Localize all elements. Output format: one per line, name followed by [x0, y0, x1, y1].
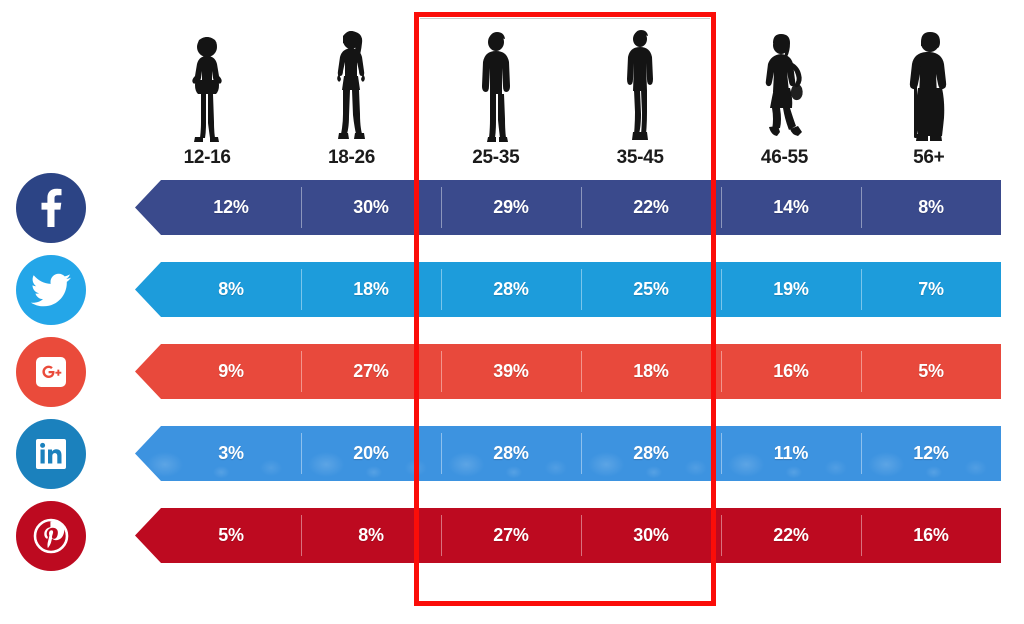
value-cell: 12%: [135, 180, 301, 235]
value-cell: 29%: [441, 180, 581, 235]
value-cell: 8%: [301, 508, 441, 563]
value-cell: 16%: [721, 344, 861, 399]
facebook-icon[interactable]: [16, 173, 86, 243]
value-cell: 27%: [301, 344, 441, 399]
value-cell: 8%: [135, 262, 301, 317]
value-cell: 22%: [581, 180, 721, 235]
age-column-35-45: 35-45: [568, 18, 712, 170]
value-cell: 25%: [581, 262, 721, 317]
network-rows: 12% 30% 29% 22% 14% 8% 8% 18% 28% 25% 19…: [0, 180, 1024, 590]
value-cell: 20%: [301, 426, 441, 481]
age-column-12-16: 12-16: [135, 18, 279, 170]
value-cell: 5%: [135, 508, 301, 563]
age-label: 12-16: [184, 148, 231, 170]
age-column-46-55: 46-55: [712, 18, 856, 170]
facebook-bar: 12% 30% 29% 22% 14% 8%: [135, 180, 1001, 235]
value-cell: 28%: [441, 262, 581, 317]
table-row: 12% 30% 29% 22% 14% 8%: [0, 180, 1024, 235]
value-cell: 11%: [721, 426, 861, 481]
value-cell: 9%: [135, 344, 301, 399]
value-cell: 30%: [581, 508, 721, 563]
pinterest-bar: 5% 8% 27% 30% 22% 16%: [135, 508, 1001, 563]
young-woman-silhouette-icon: [326, 30, 376, 142]
google-plus-bar: 9% 27% 39% 18% 16% 5%: [135, 344, 1001, 399]
linkedin-icon[interactable]: [16, 419, 86, 489]
age-group-header: 12-16: [135, 18, 1001, 170]
value-cell: 12%: [861, 426, 1001, 481]
elderly-person-with-cane-silhouette-icon: [902, 30, 956, 142]
table-row: 3% 20% 28% 28% 11% 12%: [0, 426, 1024, 481]
age-label: 25-35: [472, 148, 519, 170]
google-plus-icon[interactable]: [16, 337, 86, 407]
value-cell: 27%: [441, 508, 581, 563]
value-cell: 19%: [721, 262, 861, 317]
value-cell: 3%: [135, 426, 301, 481]
girl-silhouette-icon: [181, 30, 233, 142]
value-cell: 7%: [861, 262, 1001, 317]
value-cell: 28%: [441, 426, 581, 481]
woman-with-bag-silhouette-icon: [757, 30, 811, 142]
value-cell: 18%: [301, 262, 441, 317]
table-row: 9% 27% 39% 18% 16% 5%: [0, 344, 1024, 399]
value-cell: 8%: [861, 180, 1001, 235]
social-media-age-infographic: 12-16: [0, 0, 1024, 624]
table-row: 8% 18% 28% 25% 19% 7%: [0, 262, 1024, 317]
value-cell: 5%: [861, 344, 1001, 399]
value-cell: 22%: [721, 508, 861, 563]
twitter-icon[interactable]: [16, 255, 86, 325]
value-cell: 18%: [581, 344, 721, 399]
value-cell: 14%: [721, 180, 861, 235]
linkedin-bar: 3% 20% 28% 28% 11% 12%: [135, 426, 1001, 481]
value-cell: 30%: [301, 180, 441, 235]
age-column-25-35: 25-35: [424, 18, 568, 170]
age-label: 35-45: [617, 148, 664, 170]
pinterest-icon[interactable]: [16, 501, 86, 571]
twitter-bar: 8% 18% 28% 25% 19% 7%: [135, 262, 1001, 317]
table-row: 5% 8% 27% 30% 22% 16%: [0, 508, 1024, 563]
value-cell: 28%: [581, 426, 721, 481]
walking-man-silhouette-icon: [619, 30, 661, 142]
value-cell: 16%: [861, 508, 1001, 563]
age-label: 56+: [913, 148, 944, 170]
age-column-56-plus: 56+: [857, 18, 1001, 170]
age-label: 18-26: [328, 148, 375, 170]
young-man-silhouette-icon: [473, 30, 519, 142]
age-label: 46-55: [761, 148, 808, 170]
age-column-18-26: 18-26: [279, 18, 423, 170]
value-cell: 39%: [441, 344, 581, 399]
